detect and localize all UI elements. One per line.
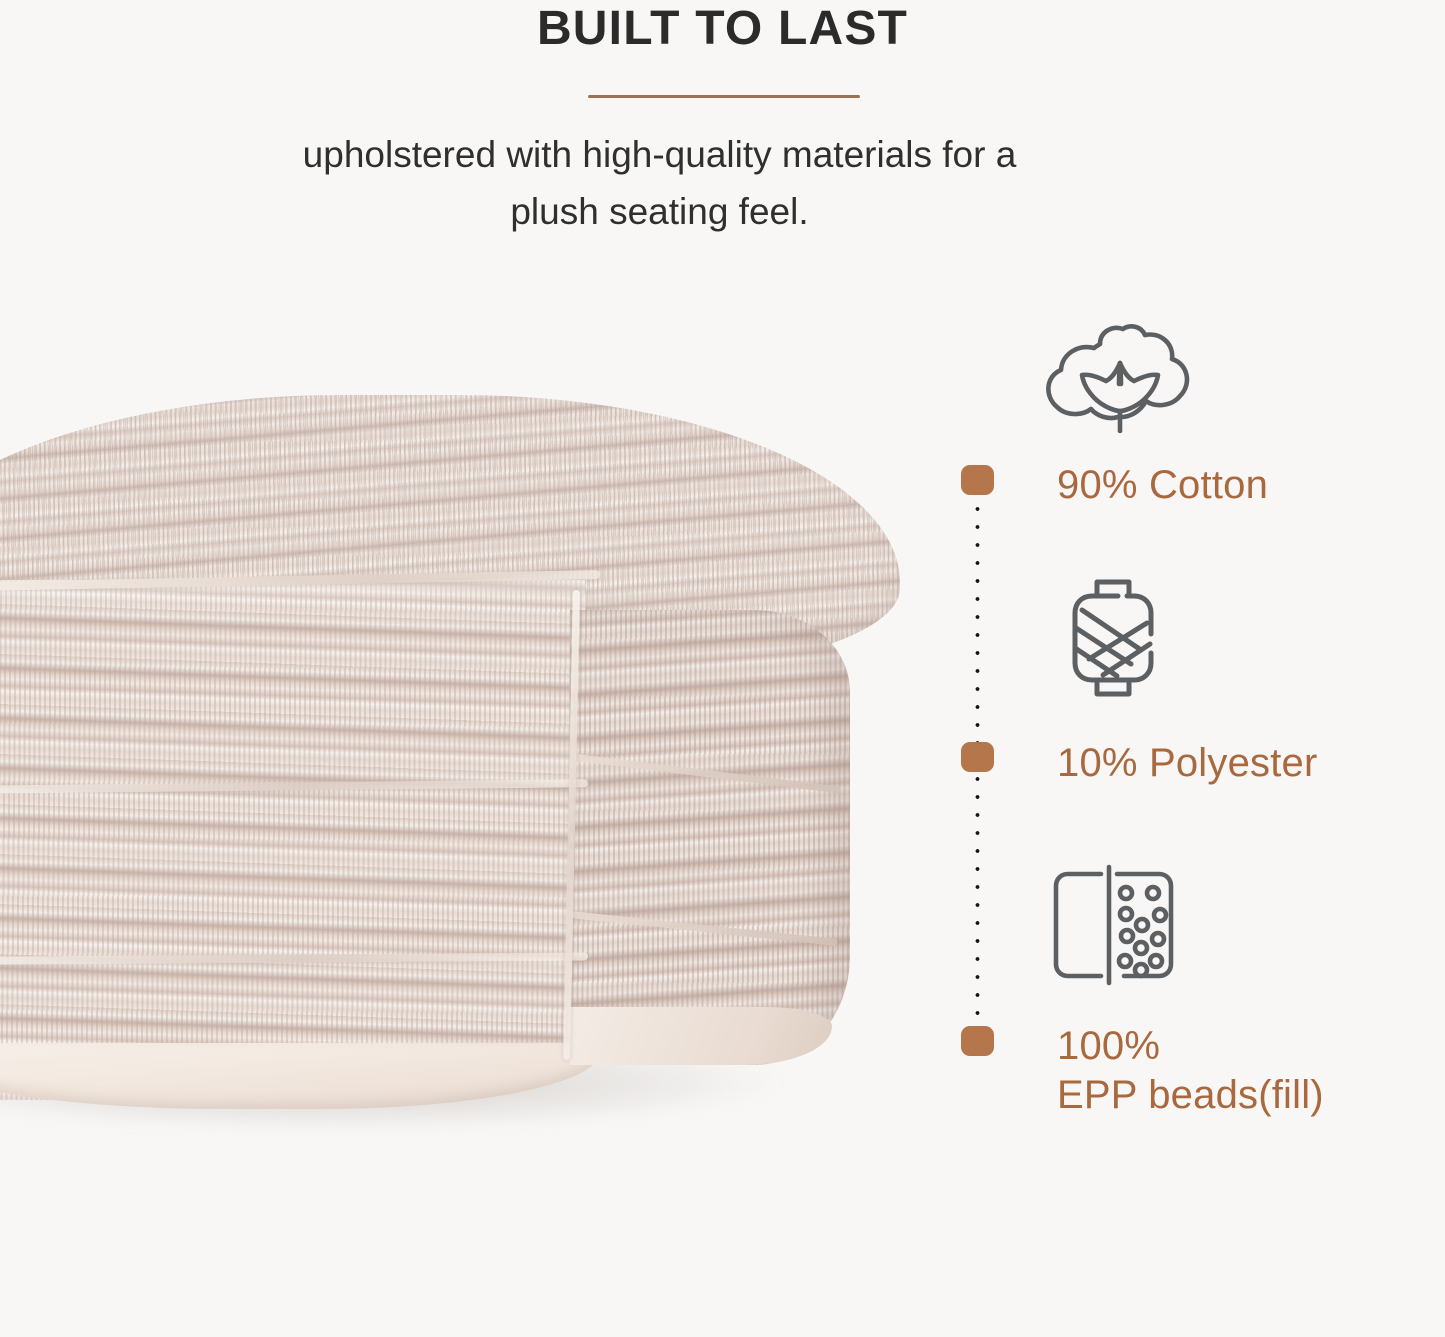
bead-fill-cushion-icon <box>1046 862 1190 993</box>
pouf-right-face <box>570 610 850 1065</box>
spec-label-polyester: 10% Polyester <box>1057 739 1318 788</box>
cotton-boll-icon <box>1040 322 1200 449</box>
header-section: BUILT TO LAST upholstered with high-qual… <box>0 0 1445 250</box>
pouf-bottom-hem-right <box>570 1007 832 1065</box>
page-subtitle: upholstered with high-quality materials … <box>172 126 1147 240</box>
spec-label-epp-line-2: EPP beads(fill) <box>1057 1071 1324 1120</box>
spec-label-epp-beads: 100% EPP beads(fill) <box>1057 1022 1324 1120</box>
spec-label-cotton: 90% Cotton <box>1057 461 1268 510</box>
pouf-front-face <box>0 580 585 1100</box>
spec-label-epp-line-1: 100% <box>1057 1024 1160 1068</box>
spec-marker-polyester <box>961 742 994 772</box>
page-title: BUILT TO LAST <box>0 2 1445 56</box>
spec-marker-cotton <box>961 465 994 495</box>
header-divider <box>588 95 860 98</box>
thread-spool-icon <box>1055 576 1173 705</box>
pouf-bottom-hem <box>0 1043 600 1109</box>
pouf-body <box>0 395 940 1135</box>
page-subtitle-line-2: plush seating feel. <box>172 183 1147 240</box>
spec-marker-epp-beads <box>961 1026 994 1056</box>
page-subtitle-line-1: upholstered with high-quality materials … <box>303 134 1017 175</box>
pouf-ottoman-photo <box>0 395 940 1185</box>
